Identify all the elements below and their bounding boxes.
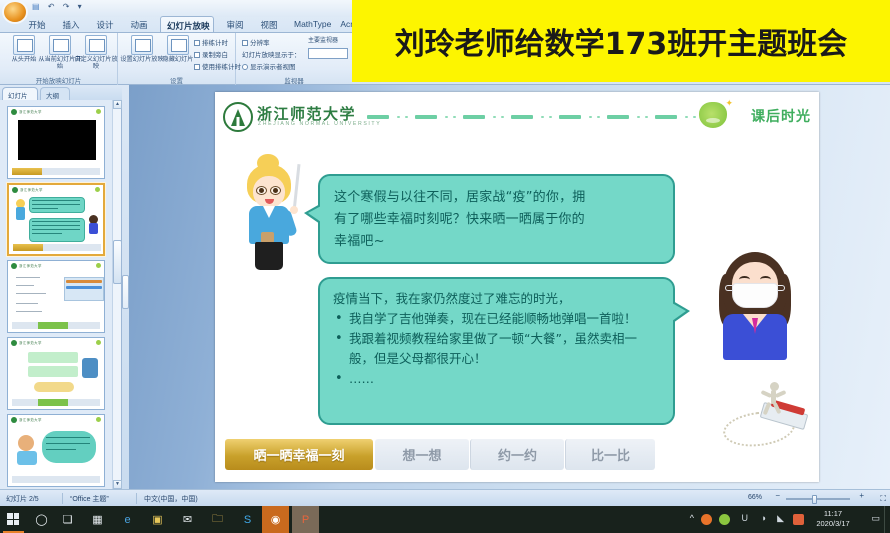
slide-thumbnail-4[interactable]: 浙江师范大学 — [7, 337, 105, 410]
ribbon-check-rehearse[interactable]: 排练计时 — [194, 37, 228, 47]
badge-text: 课后时光 — [751, 106, 811, 126]
status-language[interactable]: 中文(中国，中国) — [144, 494, 198, 504]
badge-logo-icon — [96, 263, 101, 268]
clock-time: 11:17 — [810, 509, 856, 519]
badge-logo-icon — [96, 417, 101, 422]
mail-icon[interactable]: ✉ — [178, 510, 197, 529]
panel-tab-slides[interactable]: 幻灯片 — [2, 87, 38, 100]
badge-logo-icon — [96, 109, 101, 114]
pointer-stick-icon — [292, 164, 300, 212]
slide-thumbnail-panel: 幻灯片 大纲 浙江师范大学 — [0, 85, 122, 489]
ribbon-group-label: 监视器 — [236, 75, 352, 85]
zoom-in-icon[interactable]: + — [859, 491, 864, 500]
taskbar-clock[interactable]: 11:17 2020/3/17 — [810, 509, 856, 529]
ribbon-check-use-timings[interactable]: 使用排练计时 — [194, 61, 241, 71]
face-mask-icon — [732, 283, 778, 308]
browser-icon[interactable]: e — [118, 510, 137, 529]
zoom-out-icon[interactable]: − — [775, 491, 780, 500]
tab-slideshow[interactable]: 幻灯片放映 — [160, 16, 214, 33]
bullet-item: 我跟着视频教程给家里做了一顿“大餐”，虽然卖相一般，但是父母都很开心！ — [333, 329, 660, 369]
thumbnail-title: 浙江师范大学 — [19, 340, 42, 345]
badge-logo-icon — [699, 102, 727, 128]
running-figure-icon — [759, 382, 787, 416]
slide-thumbnail-3[interactable]: 浙江师范大学 — [7, 260, 105, 333]
ribbon-check-resolution[interactable]: 分辨率 — [242, 37, 270, 47]
ribbon-group-label: 开始放映幻灯片 — [0, 75, 117, 85]
tab-mathtype[interactable]: MathType — [288, 16, 332, 33]
media-player-taskbar-button[interactable]: ◉ — [262, 506, 289, 533]
bubble-lead-line: 疫情当下，我在家仍然度过了难忘的时光， — [333, 289, 660, 309]
slide-thumbnail-1[interactable]: 浙江师范大学 — [7, 106, 105, 179]
ribbon-label-primary-monitor: 主要监视器 — [308, 35, 338, 44]
speech-bubble-student: 疫情当下，我在家仍然度过了难忘的时光， 我自学了吉他弹奏，现在已经能顺畅地弹唱一… — [318, 277, 675, 425]
section-tab-arrange[interactable]: 约一约 — [470, 439, 564, 470]
teacher-body — [16, 207, 25, 220]
scroll-up-icon[interactable]: ▲ — [113, 100, 122, 109]
jump-rope-illustration — [715, 382, 811, 460]
thumbnail-title: 浙江师范大学 — [20, 187, 43, 192]
badge-logo-icon — [96, 340, 101, 345]
student-illustration — [715, 252, 795, 357]
thumbnail-nav-active — [38, 322, 68, 329]
tray-volume-icon[interactable]: ◣ — [777, 513, 784, 524]
ribbon-group-start-show: 从头开始 从当前幻灯片开始 自定义幻灯片放映 开始放映幻灯片 — [0, 33, 118, 85]
file-explorer-icon[interactable]: 🗀 — [208, 510, 227, 529]
university-logo-icon — [11, 263, 17, 269]
current-slide[interactable]: 浙江师范大学 ZHEJIANG NORMAL UNIVERSITY — [215, 92, 819, 482]
header-dashed-rule — [367, 114, 707, 119]
status-zoom-level[interactable]: 66% — [748, 494, 762, 501]
video-placeholder — [18, 120, 96, 160]
bubble-line: 这个寒假与以往不同，居家战“疫”的你，拥 — [334, 187, 659, 209]
powerpoint-icon[interactable]: P — [296, 510, 315, 529]
cortana-search-icon[interactable]: ◯ — [32, 510, 51, 529]
media-player-icon[interactable]: ◉ — [266, 510, 285, 529]
tab-home[interactable]: 开始 — [22, 16, 52, 33]
custom-show-icon — [85, 35, 107, 55]
section-tab-compare[interactable]: 比一比 — [565, 439, 655, 470]
thumbnail-nav-idle — [12, 476, 100, 483]
thumbnail-nav-active — [38, 399, 68, 406]
panel-tab-bar: 幻灯片 大纲 — [0, 85, 122, 100]
notification-icon[interactable]: ▭ — [871, 513, 880, 524]
scroll-down-icon[interactable]: ▼ — [113, 480, 122, 489]
thumbnail-title: 浙江师范大学 — [19, 263, 42, 268]
ribbon-field-show-on[interactable] — [308, 48, 348, 59]
tray-flame-icon[interactable] — [701, 514, 712, 525]
clock-date: 2020/3/17 — [810, 519, 856, 529]
thumbnail-title: 浙江师范大学 — [19, 417, 42, 422]
hide-slide-icon — [167, 35, 189, 55]
ribbon-group-setup: 设置幻灯片放映 隐藏幻灯片 排练计时 录制旁白 使用排练计时 — [118, 33, 236, 85]
scrollbar-thumb[interactable] — [113, 240, 122, 284]
tray-ime-icon[interactable] — [793, 514, 804, 525]
ribbon-group-monitors: 分辨率 幻灯片放映显示于： 显示演示者视图 主要监视器 监视器 — [236, 33, 352, 85]
thumbnail-list[interactable]: 浙江师范大学 浙江师范大学 — [0, 100, 113, 489]
zoom-slider-knob[interactable] — [812, 495, 817, 504]
badge-logo-icon — [95, 187, 100, 192]
sparkle-icon: ✦ — [725, 98, 733, 109]
tray-usb-icon[interactable]: U — [742, 513, 749, 523]
play-from-start-icon — [13, 35, 35, 55]
ribbon-check-record-narration[interactable]: 录制旁白 — [194, 49, 228, 59]
thumbnail-scrollbar[interactable]: ▲ ▼ — [112, 100, 121, 489]
start-button[interactable] — [0, 506, 27, 533]
ribbon-label-show-on: 幻灯片放映显示于： — [242, 49, 301, 59]
university-logo-icon — [223, 102, 253, 132]
tray-chevron-icon[interactable]: ^ — [690, 513, 694, 523]
tray-network-icon[interactable]: ◑ — [761, 513, 766, 523]
slide-canvas: 浙江师范大学 ZHEJIANG NORMAL UNIVERSITY — [129, 85, 890, 489]
bubble-bullet-list: 我自学了吉他弹奏，现在已经能顺畅地弹唱一首啦！ 我跟着视频教程给家里做了一顿“大… — [333, 309, 660, 389]
fit-to-window-icon[interactable]: ⛶ — [880, 494, 886, 504]
caption-banner: 刘玲老师给数学173班开主题班会 — [352, 0, 890, 82]
ribbon-check-presenter-view[interactable]: 显示演示者视图 — [242, 61, 296, 71]
redo-icon[interactable]: ↷ — [63, 2, 73, 11]
panel-splitter[interactable] — [122, 85, 129, 489]
skype-icon[interactable]: S — [238, 510, 257, 529]
text-block — [28, 352, 78, 363]
student-body — [89, 223, 98, 234]
thumbnail-preview: 浙江师范大学 — [8, 107, 104, 178]
tab-view[interactable]: 视图 — [254, 16, 284, 33]
store-icon[interactable]: ▣ — [148, 510, 167, 529]
university-logo-icon — [12, 187, 18, 193]
section-tab-share[interactable]: 晒一晒幸福一刻 — [225, 439, 373, 470]
thumbnail-preview: 浙江师范大学 — [8, 261, 104, 332]
slide-thumbnail-2[interactable]: 浙江师范大学 — [7, 183, 105, 256]
checkbox-icon — [194, 64, 200, 70]
bullet-item: …… — [333, 369, 660, 389]
save-icon[interactable]: ▤ — [32, 2, 43, 11]
university-subtitle: ZHEJIANG NORMAL UNIVERSITY — [258, 121, 381, 127]
quick-access-icons: ▤ ↶ ↷ ▾ — [32, 2, 85, 11]
checkbox-icon — [194, 52, 200, 58]
slide-thumbnail-5[interactable]: 浙江师范大学 — [7, 414, 105, 487]
bubble-line: 幸福吧~ — [334, 231, 659, 253]
tray-shield-icon[interactable] — [719, 514, 730, 525]
thumbnail-nav-idle — [43, 244, 101, 251]
speech-bubble-teacher: 这个寒假与以往不同，居家战“疫”的你，拥 有了哪些幸福时刻呢？快来晒一晒属于你的… — [318, 174, 675, 264]
checkbox-icon — [242, 40, 248, 46]
windows-taskbar: ◯ ❏ ▦ e ▣ ✉ 🗀 S ◉ P ^ U ◑ ◣ 11:17 2020/3… — [0, 506, 890, 533]
task-view-icon[interactable]: ❏ — [58, 510, 77, 529]
tab-review[interactable]: 审阅 — [220, 16, 250, 33]
thumbnail-nav-active — [12, 168, 42, 175]
text-block — [28, 366, 78, 377]
slide-section-tabs: 晒一晒幸福一刻 想一想 约一约 比一比 — [225, 439, 655, 470]
thumbnail-title: 浙江师范大学 — [19, 109, 42, 114]
undo-icon[interactable]: ↶ — [48, 2, 58, 11]
customize-qat-icon[interactable]: ▾ — [78, 2, 85, 11]
thumbnail-preview: 浙江师范大学 — [9, 185, 103, 254]
tab-insert[interactable]: 插入 — [56, 16, 86, 33]
university-logo-icon — [11, 109, 17, 115]
radio-icon — [242, 64, 248, 70]
tab-animations[interactable]: 动画 — [124, 16, 154, 33]
panel-tab-outline[interactable]: 大纲 — [40, 87, 70, 100]
show-desktop-button[interactable] — [884, 506, 890, 533]
app-grid-icon[interactable]: ▦ — [88, 510, 107, 529]
ribbon-button-label: 自定义幻灯片放映 — [74, 56, 118, 70]
status-slide-counter: 幻灯片 2/5 — [6, 494, 39, 504]
thumbnail-nav-active — [13, 244, 43, 251]
play-from-current-icon — [49, 35, 71, 55]
screen-root: ▤ ↶ ↷ ▾ 开始 插入 设计 动画 幻灯片放映 审阅 视图 MathType… — [0, 0, 890, 533]
highlight-pill — [34, 382, 74, 392]
section-tab-think[interactable]: 想一想 — [375, 439, 469, 470]
student-figure — [18, 435, 34, 451]
student-figure — [82, 358, 98, 378]
status-bar: 幻灯片 2/5 “Office 主题” 中文(中国，中国) 66% − + ⛶ — [0, 489, 890, 506]
setup-show-icon — [131, 35, 153, 55]
zoom-slider[interactable] — [786, 495, 850, 502]
checkbox-icon — [194, 40, 200, 46]
ribbon-button-custom-show[interactable]: 自定义幻灯片放映 — [74, 33, 118, 70]
university-logo-icon — [11, 417, 17, 423]
caption-banner-text: 刘玲老师给数学173班开主题班会 — [395, 19, 848, 63]
status-theme[interactable]: “Office 主题” — [70, 494, 109, 504]
powerpoint-taskbar-button[interactable]: P — [292, 506, 319, 533]
tab-design[interactable]: 设计 — [90, 16, 120, 33]
thumbnail-preview: 浙江师范大学 — [8, 415, 104, 486]
bubble-line: 有了哪些幸福时刻呢？快来晒一晒属于你的 — [334, 209, 659, 231]
splitter-grip[interactable] — [122, 275, 129, 309]
thought-cloud — [42, 431, 96, 463]
university-logo-icon — [11, 340, 17, 346]
teacher-illustration — [239, 154, 305, 274]
powerpoint-window: ▤ ↶ ↷ ▾ 开始 插入 设计 动画 幻灯片放映 审阅 视图 MathType… — [0, 0, 890, 506]
windows-start-icon[interactable] — [4, 510, 23, 529]
bullet-item: 我自学了吉他弹奏，现在已经能顺畅地弹唱一首啦！ — [333, 309, 660, 329]
thumbnail-preview: 浙江师范大学 — [8, 338, 104, 409]
thumbnail-nav-idle — [42, 168, 100, 175]
ribbon-group-label: 设置 — [118, 75, 235, 85]
student-body — [17, 451, 37, 465]
